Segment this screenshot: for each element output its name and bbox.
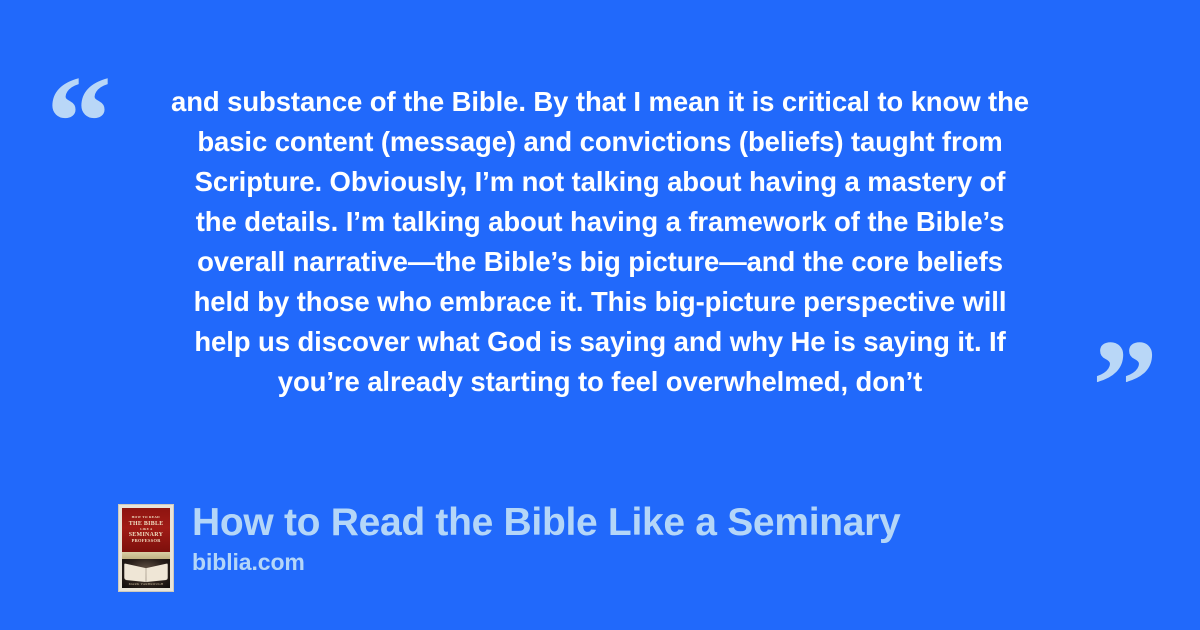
book-cover-title-panel: HOW TO READ THE BIBLE LIKE A SEMINARY PR… <box>122 508 170 552</box>
quote-line: held by those who embrace it. This big-p… <box>118 282 1082 322</box>
book-cover-line-2: THE BIBLE <box>129 521 164 527</box>
closing-quote-icon: ” <box>1092 320 1156 452</box>
quote-line: Scripture. Obviously, I’m not talking ab… <box>118 162 1082 202</box>
quote-line: basic content (message) and convictions … <box>118 122 1082 162</box>
attribution-footer: HOW TO READ THE BIBLE LIKE A SEMINARY PR… <box>118 500 900 592</box>
attribution-text: How to Read the Bible Like a Seminary bi… <box>192 500 900 576</box>
quote-text: and substance of the Bible. By that I me… <box>118 82 1082 402</box>
open-book-photo-icon: MARK YARBROUGH <box>122 559 170 588</box>
site-name[interactable]: biblia.com <box>192 548 900 576</box>
quote-line: and substance of the Bible. By that I me… <box>118 82 1082 122</box>
quote-card: “ ” and substance of the Bible. By that … <box>0 0 1200 630</box>
book-page-left <box>124 563 146 582</box>
quote-line: you’re already starting to feel overwhel… <box>118 362 1082 402</box>
book-title: How to Read the Bible Like a Seminary <box>192 500 900 546</box>
quote-line: the details. I’m talking about having a … <box>118 202 1082 242</box>
opening-quote-icon: “ <box>46 56 110 188</box>
book-cover-band <box>122 552 170 559</box>
quote-line: overall narrative—the Bible’s big pictur… <box>118 242 1082 282</box>
book-cover-author: MARK YARBROUGH <box>122 582 170 586</box>
book-cover-line-1: HOW TO READ <box>132 516 160 519</box>
book-cover-icon: HOW TO READ THE BIBLE LIKE A SEMINARY PR… <box>118 504 174 592</box>
quote-line: help us discover what God is saying and … <box>118 322 1082 362</box>
book-page-right <box>146 563 168 582</box>
book-cover-line-5: PROFESSOR <box>131 539 160 543</box>
quote-block: “ ” and substance of the Bible. By that … <box>0 52 1200 422</box>
